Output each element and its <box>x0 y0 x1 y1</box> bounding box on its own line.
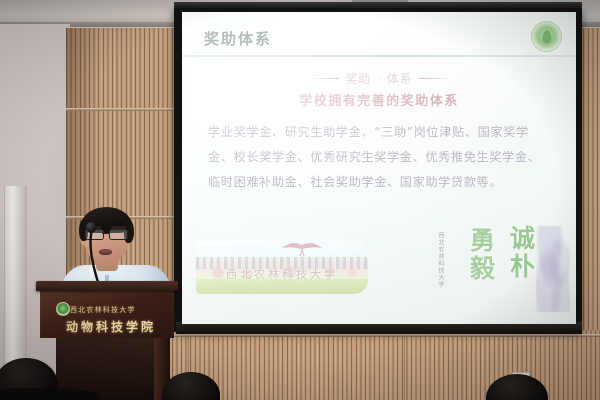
university-logo-icon <box>531 21 562 52</box>
campus-photo: 西北农林科技大学 <box>196 240 368 294</box>
podium-college-name: 动物科技学院 <box>44 318 178 335</box>
ornament-dot: · <box>377 72 381 85</box>
slide-title: 奖助体系 <box>204 28 272 49</box>
microphone-capsule <box>86 222 96 233</box>
calligraphy-column-right: 诚 朴 <box>510 226 535 281</box>
paraglider-icon <box>280 242 324 258</box>
ornament-text-right: 体系 <box>387 70 413 87</box>
title-underline-rule <box>182 55 576 57</box>
calligraphy-inscription: 西北农林科技大学 <box>436 232 445 288</box>
ornament-line-right <box>419 78 453 79</box>
ornament-line-left <box>305 78 339 79</box>
ornament-text-left: 奖助 <box>345 70 371 87</box>
photo-caption: 西北农林科技大学 <box>196 266 368 282</box>
ornament-divider: 奖助 · 体系 <box>182 70 576 87</box>
podium-top-surface <box>36 281 178 291</box>
calligraphy-char: 诚 <box>510 226 535 252</box>
audience-shoulder <box>0 388 100 400</box>
podium-front-panel: 西北农林科技大学 动物科技学院 <box>40 290 174 338</box>
calligraphy-char: 毅 <box>470 256 495 282</box>
lecture-hall-photo: 奖助体系 奖助 · 体系 学校拥有完善的奖助体系 学业奖学金、研究生助学金、“三… <box>0 0 600 400</box>
calligraphy-char: 朴 <box>510 254 535 280</box>
presentation-slide: 奖助体系 奖助 · 体系 学校拥有完善的奖助体系 学业奖学金、研究生助学金、“三… <box>182 12 576 324</box>
calligraphy-block: 西北农林科技大学 勇 毅 诚 朴 <box>418 226 568 314</box>
podium-university-name: 西北农林科技大学 <box>70 305 174 315</box>
panel-seam <box>404 336 406 400</box>
university-emblem-icon <box>56 302 70 316</box>
slide-subtitle: 学校拥有完善的奖助体系 <box>182 90 576 109</box>
slide-body-text: 学业奖学金、研究生助学金、“三助”岗位津贴、国家奖学金、校长奖学金、优秀研究生奖… <box>208 120 552 195</box>
slat-divider <box>66 108 188 111</box>
watercolor-decoration <box>536 226 570 312</box>
calligraphy-column-left: 勇 毅 <box>470 228 495 283</box>
calligraphy-char: 勇 <box>470 228 495 254</box>
